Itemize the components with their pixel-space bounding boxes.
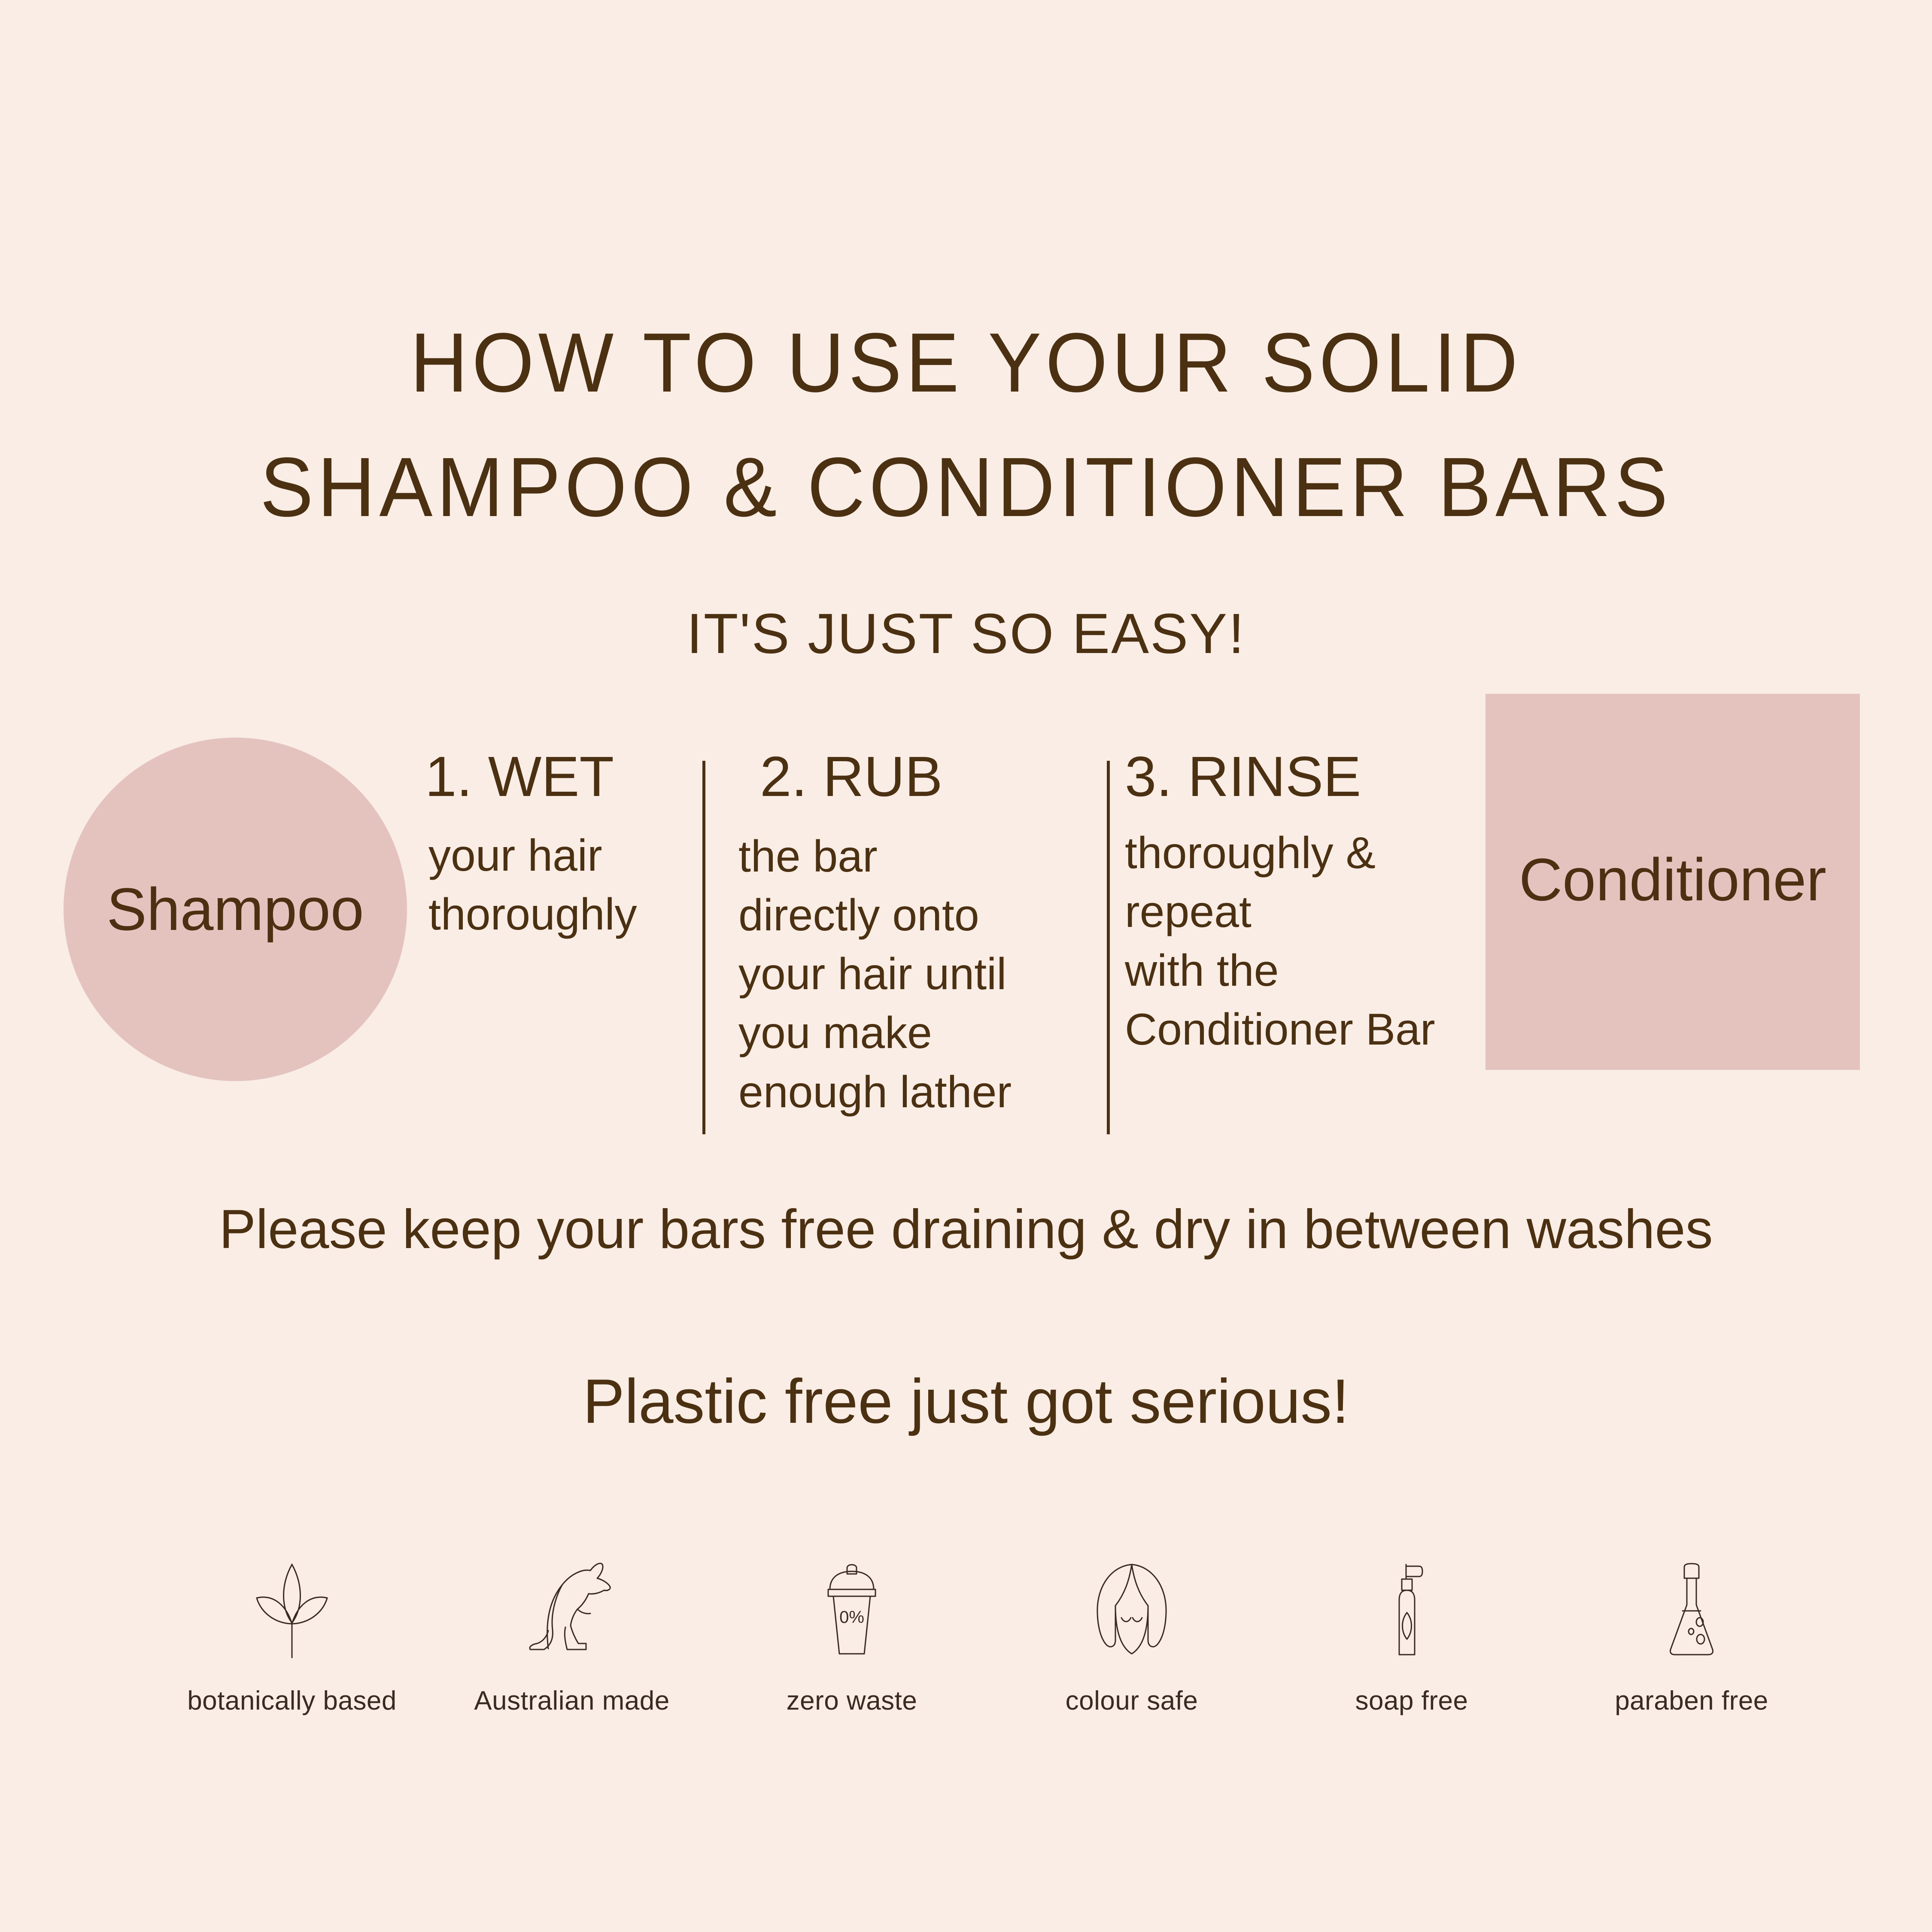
leaf-sprout-icon: [249, 1558, 335, 1662]
plastic-free-statement: Plastic free just got serious!: [0, 1365, 1932, 1437]
step-item-rinse: 3. RINSE thoroughly &repeatwith theCondi…: [1125, 747, 1468, 1060]
steps-group: 1. WET your hairthoroughly 2. RUB the ba…: [412, 747, 1503, 1142]
feature-badge-label: Australian made: [474, 1686, 670, 1716]
feature-badge-label: soap free: [1355, 1686, 1468, 1716]
page-title-line-2: SHAMPOO & CONDITIONER BARS: [49, 425, 1884, 550]
poster-canvas: HOW TO USE YOUR SOLID SHAMPOO & CONDITIO…: [0, 0, 1932, 1932]
step-item-rub: 2. RUB the bardirectly ontoyour hair unt…: [738, 747, 1039, 1122]
feature-badges-row: botanically based: [163, 1558, 1820, 1716]
step-heading: 3. RINSE: [1125, 747, 1468, 807]
svg-text:0%: 0%: [839, 1608, 864, 1627]
page-subtitle: IT'S JUST SO EASY!: [0, 601, 1932, 666]
shampoo-badge: Shampoo: [64, 738, 407, 1081]
step-body: the bardirectly ontoyour hair untilyou m…: [738, 827, 1039, 1122]
step-heading: 1. WET: [412, 747, 678, 807]
care-statement: Please keep your bars free draining & dr…: [0, 1198, 1932, 1261]
shampoo-badge-label: Shampoo: [106, 879, 364, 939]
step-body: your hairthoroughly: [412, 826, 678, 945]
feature-badge-label: botanically based: [187, 1686, 397, 1716]
zero-waste-cup-icon: 0%: [815, 1558, 888, 1662]
pump-bottle-icon: [1379, 1558, 1444, 1662]
feature-badge-australian-made: Australian made: [443, 1558, 701, 1716]
kangaroo-icon: [522, 1558, 621, 1662]
feature-badge-label: colour safe: [1066, 1686, 1198, 1716]
flask-icon: [1655, 1558, 1728, 1662]
step-body: thoroughly &repeatwith theConditioner Ba…: [1125, 824, 1468, 1060]
feature-badge-botanically-based: botanically based: [163, 1558, 421, 1716]
step-item-wet: 1. WET your hairthoroughly: [412, 747, 678, 944]
feature-badge-colour-safe: colour safe: [1003, 1558, 1261, 1716]
step-heading: 2. RUB: [738, 747, 1039, 807]
conditioner-badge: Conditioner: [1485, 694, 1860, 1070]
page-title: HOW TO USE YOUR SOLID SHAMPOO & CONDITIO…: [0, 301, 1932, 550]
feature-badge-label: zero waste: [787, 1686, 917, 1716]
woman-hair-icon: [1084, 1558, 1179, 1662]
feature-badge-zero-waste: 0% zero waste: [723, 1558, 981, 1716]
feature-badge-label: paraben free: [1615, 1686, 1768, 1716]
conditioner-badge-label: Conditioner: [1519, 850, 1826, 910]
page-title-line-1: HOW TO USE YOUR SOLID: [49, 301, 1884, 425]
feature-badge-paraben-free: paraben free: [1563, 1558, 1820, 1716]
feature-badge-soap-free: soap free: [1283, 1558, 1540, 1716]
